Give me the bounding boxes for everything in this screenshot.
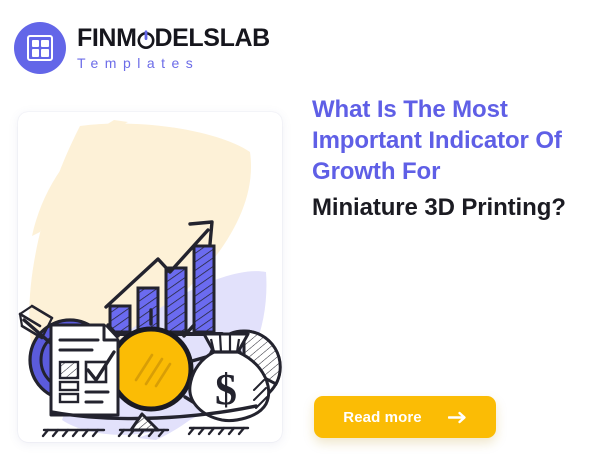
business-growth-illustration: $ (18, 112, 282, 442)
copy-block: What Is The Most Important Indicator Of … (312, 94, 592, 223)
illustration-card: $ (18, 112, 282, 442)
read-more-button[interactable]: Read more (314, 396, 496, 438)
power-button-icon (137, 26, 155, 51)
grid-squares-glyph (27, 35, 53, 61)
arrow-right-icon (448, 411, 467, 424)
headline: What Is The Most Important Indicator Of … (312, 94, 592, 187)
brand-tagline: Templates (77, 56, 270, 70)
brand-name: FINMDELSLAB (77, 26, 270, 51)
brand-wordmark: FINMDELSLAB Templates (77, 26, 270, 70)
checklist-document-icon (51, 325, 118, 415)
svg-text:$: $ (215, 365, 237, 414)
promo-banner: FINMDELSLAB Templates (0, 0, 600, 464)
brand-logo[interactable]: FINMDELSLAB Templates (14, 22, 270, 74)
brand-name-prefix: FINM (77, 26, 137, 51)
read-more-label: Read more (343, 409, 421, 426)
brand-name-suffix: DELSLAB (155, 26, 270, 51)
grid-squares-icon (14, 22, 66, 74)
subheadline: Miniature 3D Printing? (312, 192, 592, 223)
